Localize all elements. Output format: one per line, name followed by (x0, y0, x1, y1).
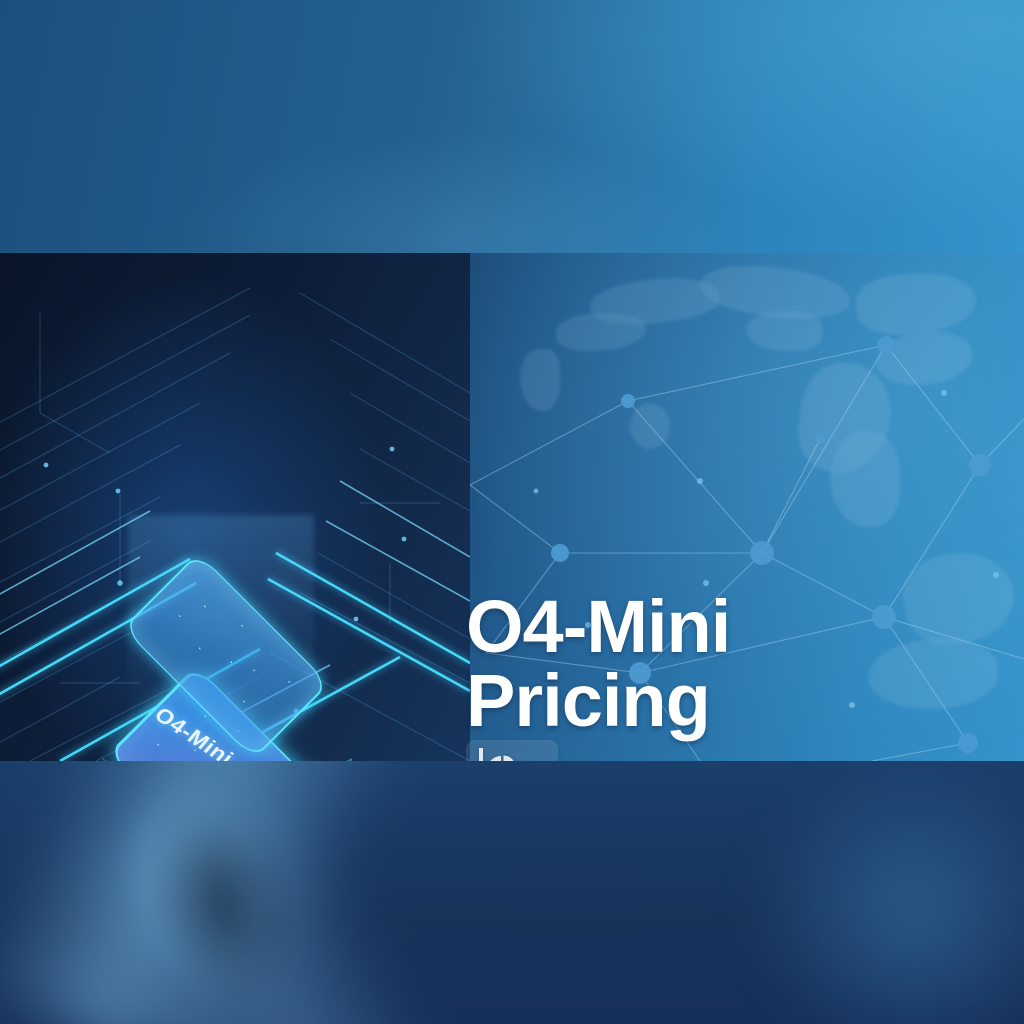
chip-illustration: O4-Mini (0, 253, 470, 761)
title-line-2-row: Pricing (466, 664, 730, 761)
hero-banner: O4-Mini O4-Mini Pricing (0, 253, 1024, 761)
bottom-right-glow (684, 761, 1024, 1024)
pie-bar-chart-icon (466, 740, 558, 761)
banner-text-block: O4-Mini Pricing Your Complete Guide (466, 506, 986, 761)
page-title: O4-Mini Pricing (466, 590, 730, 761)
bottom-light-streak-2 (79, 768, 461, 1024)
bottom-background-strip (0, 761, 1024, 1024)
top-background-strip (0, 0, 1024, 253)
banner-screenshot: O4-Mini O4-Mini Pricing (0, 0, 1024, 1024)
title-line-2: Pricing (466, 659, 710, 742)
title-line-1: O4-Mini (466, 590, 730, 664)
